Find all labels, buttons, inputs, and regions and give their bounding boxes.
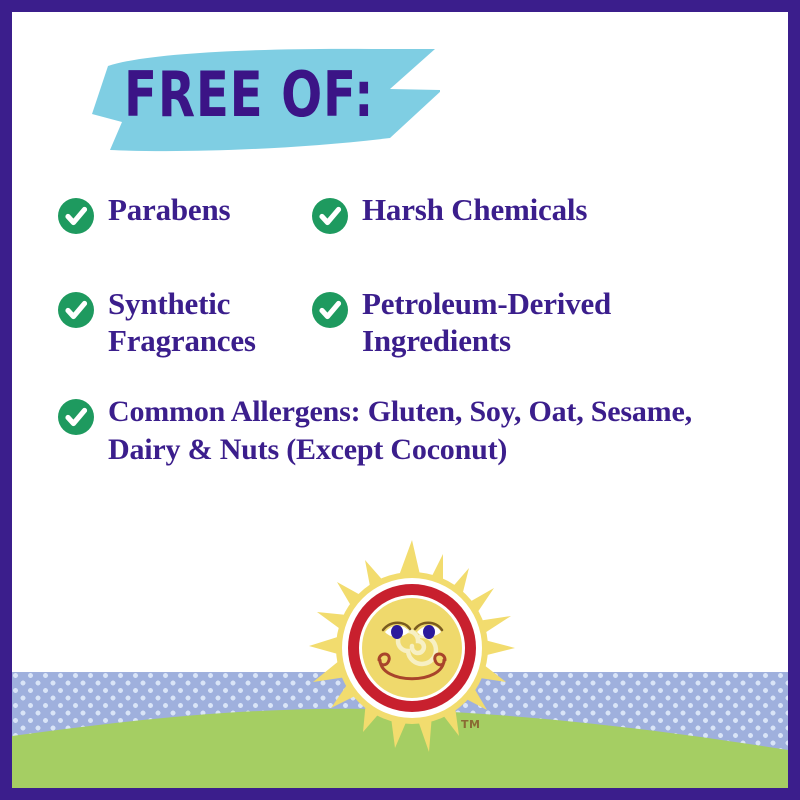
- check-circle-icon: [58, 399, 94, 435]
- list-item-harsh-chemicals: Harsh Chemicals: [312, 192, 732, 234]
- list-item-label: Harsh Chemicals: [362, 192, 587, 229]
- check-circle-icon: [58, 292, 94, 328]
- list-item-petroleum-derived-ingredients: Petroleum-Derived Ingredients: [312, 286, 732, 359]
- list-item-label: Common Allergens: Gluten, Soy, Oat, Sesa…: [108, 393, 768, 468]
- list-item-label: Parabens: [108, 192, 230, 229]
- list-item-common-allergens: Common Allergens: Gluten, Soy, Oat, Sesa…: [12, 393, 788, 468]
- list-item-synthetic-fragrances: Synthetic Fragrances: [12, 286, 312, 359]
- trademark-mark: TM: [461, 718, 480, 731]
- sun-logo: [309, 540, 515, 752]
- check-circle-icon: [312, 292, 348, 328]
- check-circle-icon: [312, 198, 348, 234]
- list-item-label: Petroleum-Derived Ingredients: [362, 286, 682, 359]
- list-row-2: Synthetic Fragrances Petroleum-Derived I…: [12, 286, 788, 359]
- list-row-3: Common Allergens: Gluten, Soy, Oat, Sesa…: [12, 393, 788, 468]
- free-of-banner: FREE OF:: [90, 46, 440, 158]
- product-info-card: TM FREE OF: Parabens: [12, 12, 788, 788]
- list-item-parabens: Parabens: [12, 192, 312, 234]
- free-of-list: Parabens Harsh Chemicals Synthetic Frag: [12, 192, 788, 468]
- list-item-label: Synthetic Fragrances: [108, 286, 298, 359]
- banner-title: FREE OF:: [124, 64, 374, 126]
- list-row-1: Parabens Harsh Chemicals: [12, 192, 788, 234]
- check-circle-icon: [58, 198, 94, 234]
